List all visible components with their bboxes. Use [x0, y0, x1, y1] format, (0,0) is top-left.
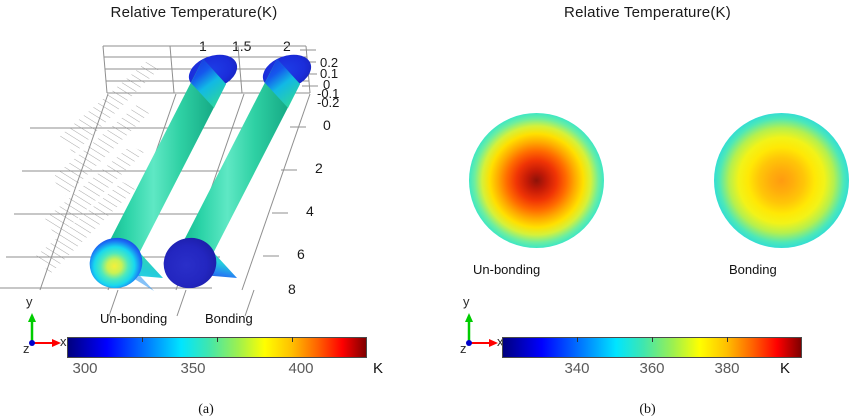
panel-a-cbar-label-400: 400 — [288, 360, 313, 377]
panel-b-cbar-label-360: 360 — [639, 360, 664, 377]
cbar-b-tick-3 — [727, 337, 728, 342]
panel-a-colorbar: 300 350 400 K — [67, 337, 367, 358]
triad-y-label-b: y — [463, 294, 470, 309]
panel-a: Relative Temperature(K) 1 1.5 2 — [0, 0, 432, 420]
triad-z-label-b: z — [460, 341, 467, 356]
panel-a-cbar-unit: K — [373, 360, 383, 377]
cbar-b-tick-1 — [577, 337, 578, 342]
panel-b-title: Relative Temperature(K) — [432, 4, 863, 21]
panel-b-cbar-label-340: 340 — [564, 360, 589, 377]
panel-a-cbar-label-300: 300 — [72, 360, 97, 377]
triad-x-label: x — [60, 334, 67, 349]
panel-b-colorbar: 340 360 380 K — [502, 337, 802, 358]
cbar-tick-3 — [292, 337, 293, 342]
triad-z-label: z — [23, 341, 30, 356]
cylinder-scene-svg — [0, 28, 432, 318]
panel-a-title: Relative Temperature(K) — [0, 4, 410, 21]
panel-b-cbar-unit: K — [780, 360, 790, 377]
triad-y-label: y — [26, 294, 33, 309]
disc-un-bonding — [469, 113, 604, 248]
disc-bonding — [714, 113, 849, 248]
panel-b: Relative Temperature(K) Un-bonding Bondi… — [432, 0, 863, 420]
panel-b-label-un-bonding: Un-bonding — [473, 262, 540, 277]
panel-a-axis-triad: y x z — [18, 298, 72, 356]
panel-a-ytick-2: 2 — [315, 160, 323, 176]
panel-a-label-un-bonding: Un-bonding — [100, 311, 167, 326]
panel-a-cbar-label-350: 350 — [180, 360, 205, 377]
panel-a-ytick-8: 8 — [288, 281, 296, 297]
panel-a-label-bonding: Bonding — [205, 311, 253, 326]
cbar-b-tick-2 — [652, 337, 653, 342]
panel-a-ytick-6: 6 — [297, 246, 305, 262]
panel-a-3d-scene — [0, 28, 432, 318]
panel-b-label-bonding: Bonding — [729, 262, 777, 277]
cbar-tick-2 — [217, 337, 218, 342]
panel-b-caption: (b) — [432, 402, 863, 418]
panel-b-axis-triad: y x z — [455, 298, 509, 356]
panel-a-ytick-4: 4 — [306, 203, 314, 219]
panel-a-ztick-5: -0.2 — [317, 95, 339, 110]
panel-a-caption: (a) — [0, 402, 422, 418]
panel-b-cbar-label-380: 380 — [714, 360, 739, 377]
cbar-tick-1 — [142, 337, 143, 342]
panel-a-ytick-0: 0 — [323, 117, 331, 133]
